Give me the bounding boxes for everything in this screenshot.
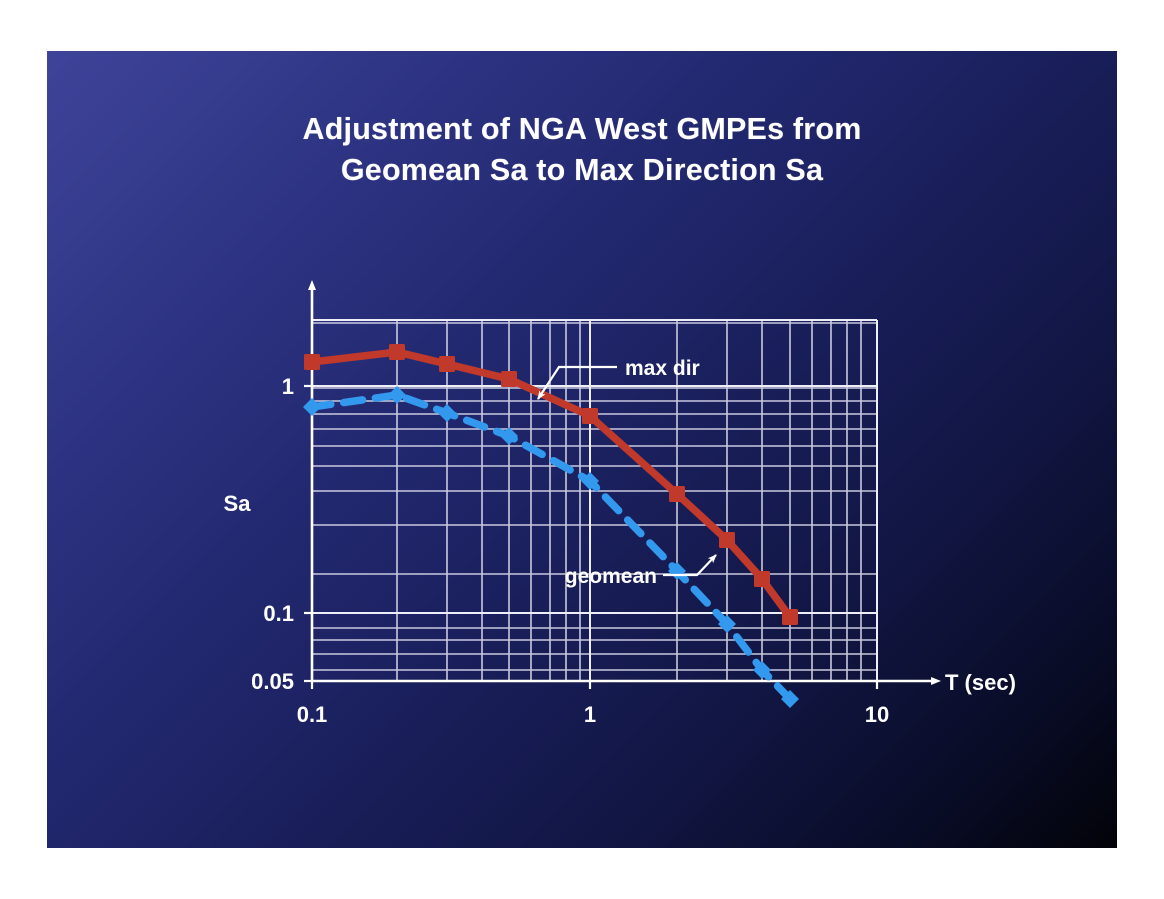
annotation-geomean-label: geomean <box>565 565 657 588</box>
chart-svg: max dir geomean 1 0.1 0.05 0.1 1 10 Sa T… <box>47 51 1117 848</box>
x-tick-label-1: 1 <box>584 702 596 727</box>
chart-gridlines <box>312 320 877 681</box>
chart-figure: max dir geomean 1 0.1 0.05 0.1 1 10 Sa T… <box>47 51 1117 848</box>
x-axis-title: T (sec) <box>945 670 1016 695</box>
annotation-max-dir-label: max dir <box>625 357 700 380</box>
annotation-max-dir: max dir <box>538 357 700 399</box>
y-tick-label-1: 1 <box>282 374 294 399</box>
x-tick-label-10: 10 <box>865 702 889 727</box>
y-tick-label-0.1: 0.1 <box>263 601 294 626</box>
y-tick-label-0.05: 0.05 <box>251 669 294 694</box>
annotation-geomean: geomean <box>565 555 716 588</box>
x-tick-label-0.1: 0.1 <box>297 702 328 727</box>
y-axis-title: Sa <box>224 491 252 516</box>
presentation-slide: Adjustment of NGA West GMPEs from Geomea… <box>47 51 1117 848</box>
slide-canvas: Adjustment of NGA West GMPEs from Geomea… <box>0 0 1164 899</box>
